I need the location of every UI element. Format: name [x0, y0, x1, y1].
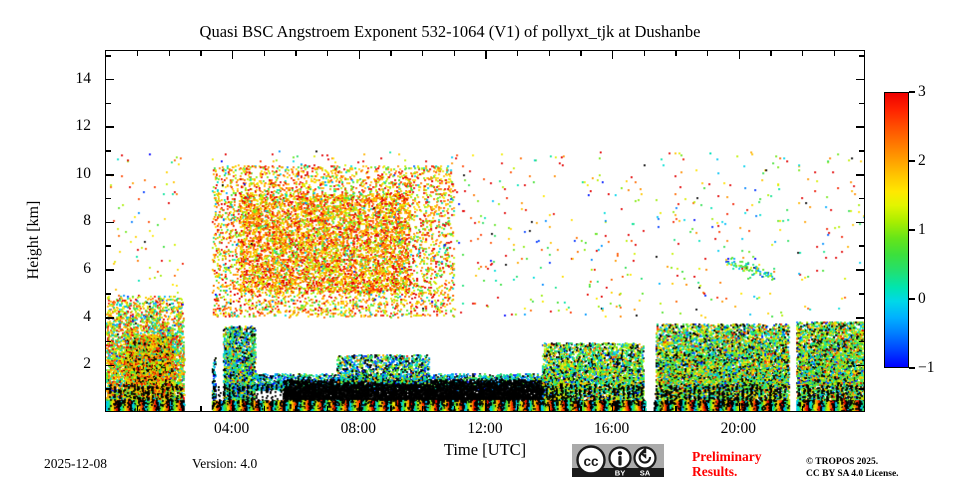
x-tick-minor-top — [580, 51, 582, 56]
x-tick-minor-top — [675, 51, 677, 56]
colorbar-tick — [909, 367, 915, 369]
preliminary-line-1: Preliminary — [692, 449, 761, 464]
x-tick-major — [612, 403, 614, 411]
preliminary-line-2: Results. — [692, 464, 761, 479]
x-tick-minor-top — [644, 51, 646, 56]
y-tick-minor-right — [859, 150, 864, 152]
x-tick-label: 16:00 — [594, 420, 629, 438]
x-tick-minor — [200, 406, 202, 411]
x-tick-minor-top — [770, 51, 772, 56]
x-tick-minor-top — [802, 51, 804, 56]
x-tick-label: 04:00 — [214, 420, 249, 438]
y-tick-major — [106, 222, 114, 224]
y-tick-label: 6 — [0, 260, 91, 278]
y-tick-minor — [106, 388, 111, 390]
y-tick-major-right — [856, 174, 864, 176]
y-tick-minor-right — [859, 55, 864, 57]
x-tick-minor — [802, 406, 804, 411]
plot-area — [105, 50, 865, 412]
x-tick-minor — [580, 406, 582, 411]
cc-by-text: BY — [615, 469, 626, 477]
colorbar-tick — [909, 91, 915, 93]
y-tick-label: 10 — [0, 165, 91, 183]
x-tick-label: 08:00 — [341, 420, 376, 438]
colorbar-tick-label: 1 — [918, 221, 926, 239]
y-tick-label: 14 — [0, 70, 91, 88]
colorbar-tick-label: 0 — [918, 290, 926, 308]
x-tick-major — [359, 403, 361, 411]
x-tick-label: 20:00 — [721, 420, 756, 438]
x-tick-minor — [707, 406, 709, 411]
x-tick-minor — [770, 406, 772, 411]
y-tick-major-right — [856, 126, 864, 128]
preliminary-results-note: Preliminary Results. — [692, 449, 761, 479]
y-tick-minor — [106, 341, 111, 343]
y-tick-minor — [106, 198, 111, 200]
y-tick-major — [106, 317, 114, 319]
x-tick-minor — [264, 406, 266, 411]
y-tick-major-right — [856, 365, 864, 367]
colorbar-tick-label: 2 — [918, 152, 926, 170]
figure-root: Quasi BSC Angstroem Exponent 532-1064 (V… — [0, 0, 960, 480]
x-tick-minor — [644, 406, 646, 411]
x-tick-minor — [169, 406, 171, 411]
x-tick-minor-top — [200, 51, 202, 56]
y-tick-label: 2 — [0, 355, 91, 373]
y-tick-minor-right — [859, 103, 864, 105]
y-tick-major-right — [856, 222, 864, 224]
x-tick-minor — [137, 406, 139, 411]
x-tick-minor-top — [137, 51, 139, 56]
y-tick-minor — [106, 293, 111, 295]
x-tick-major-top — [232, 51, 234, 59]
x-tick-minor-top — [264, 51, 266, 56]
x-axis-label: Time [UTC] — [444, 440, 526, 460]
x-tick-major-top — [485, 51, 487, 59]
y-tick-minor-right — [859, 245, 864, 247]
x-tick-minor — [295, 406, 297, 411]
colorbar-tick — [909, 298, 915, 300]
y-tick-label: 12 — [0, 117, 91, 135]
x-tick-major — [485, 403, 487, 411]
y-tick-minor — [106, 103, 111, 105]
x-tick-minor-top — [707, 51, 709, 56]
cc-badge-svg: cc BY SA — [572, 444, 664, 477]
x-tick-major — [739, 403, 741, 411]
x-tick-minor-top — [834, 51, 836, 56]
x-tick-minor-top — [169, 51, 171, 56]
y-tick-minor-right — [859, 388, 864, 390]
y-tick-label: 8 — [0, 212, 91, 230]
x-tick-minor — [327, 406, 329, 411]
x-tick-minor-top — [390, 51, 392, 56]
y-axis-label: Height [km] — [25, 201, 43, 280]
x-tick-major-top — [612, 51, 614, 59]
x-tick-minor — [549, 406, 551, 411]
x-tick-minor — [422, 406, 424, 411]
copyright-line-2: CC BY SA 4.0 License. — [806, 468, 899, 480]
y-tick-major-right — [856, 79, 864, 81]
scatter-canvas — [106, 51, 864, 411]
copyright-note: © TROPOS 2025. CC BY SA 4.0 License. — [806, 456, 899, 480]
colorbar-tick-label: −1 — [918, 359, 935, 377]
cc-license-badge: cc BY SA — [572, 444, 664, 477]
footer-date: 2025-12-08 — [44, 456, 107, 472]
colorbar: −10123 — [884, 92, 909, 368]
x-tick-minor-top — [549, 51, 551, 56]
x-tick-minor-top — [422, 51, 424, 56]
copyright-line-1: © TROPOS 2025. — [806, 456, 899, 468]
y-tick-minor-right — [859, 198, 864, 200]
chart-title: Quasi BSC Angstroem Exponent 532-1064 (V… — [0, 22, 900, 42]
colorbar-tick — [909, 229, 915, 231]
x-tick-minor — [675, 406, 677, 411]
y-tick-minor-right — [859, 293, 864, 295]
y-tick-major — [106, 126, 114, 128]
y-tick-minor — [106, 55, 111, 57]
y-tick-major — [106, 269, 114, 271]
x-tick-label: 12:00 — [467, 420, 502, 438]
y-tick-major — [106, 174, 114, 176]
x-tick-minor — [834, 406, 836, 411]
y-tick-label: 4 — [0, 308, 91, 326]
y-tick-minor — [106, 150, 111, 152]
cc-sa-text: SA — [640, 469, 651, 477]
x-tick-major — [232, 403, 234, 411]
x-tick-minor-top — [295, 51, 297, 56]
cc-mark-text: cc — [583, 454, 599, 469]
colorbar-tick-label: 3 — [918, 83, 926, 101]
x-tick-minor — [454, 406, 456, 411]
x-tick-minor-top — [327, 51, 329, 56]
y-tick-major — [106, 365, 114, 367]
y-tick-minor — [106, 245, 111, 247]
x-tick-major-top — [739, 51, 741, 59]
y-tick-major — [106, 79, 114, 81]
x-tick-minor — [390, 406, 392, 411]
colorbar-gradient — [884, 92, 909, 368]
y-tick-major-right — [856, 269, 864, 271]
x-tick-minor — [517, 406, 519, 411]
colorbar-tick — [909, 160, 915, 162]
y-tick-major-right — [856, 317, 864, 319]
x-tick-major-top — [359, 51, 361, 59]
x-tick-minor-top — [454, 51, 456, 56]
x-tick-minor-top — [517, 51, 519, 56]
y-tick-minor-right — [859, 341, 864, 343]
footer-version: Version: 4.0 — [192, 456, 257, 472]
